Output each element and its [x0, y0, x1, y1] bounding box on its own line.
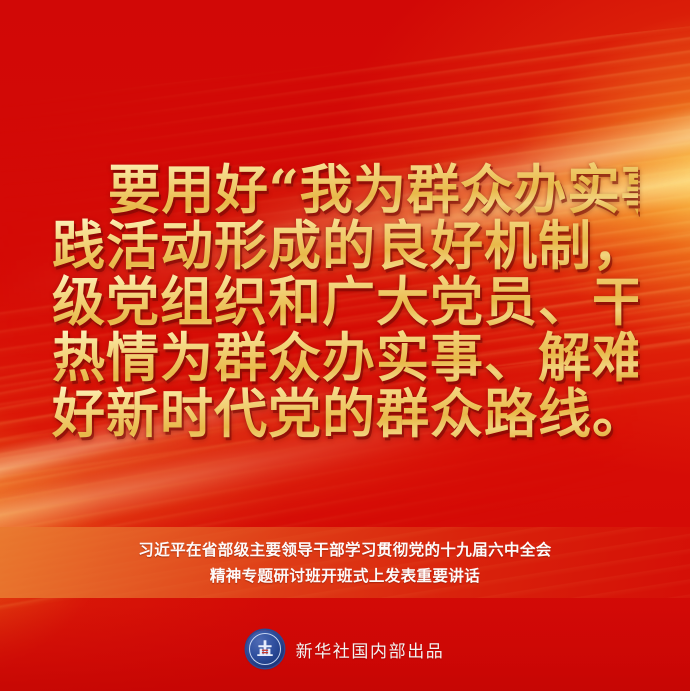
- headline-line-3: 级党组织和广大党员、干部满腔: [52, 274, 638, 330]
- footer-attribution-text: 新华社国内部出品: [296, 637, 445, 662]
- poster-canvas: 要用好“我为群众办实事”实 践活动形成的良好机制，推动各 级党组织和广大党员、干…: [0, 0, 690, 691]
- headline-line-5: 好新时代党的群众路线。: [52, 386, 638, 442]
- headline-block: 要用好“我为群众办实事”实 践活动形成的良好机制，推动各 级党组织和广大党员、干…: [0, 162, 690, 442]
- headline-line-1: 要用好“我为群众办实事”实: [52, 162, 638, 218]
- caption-line-1: 习近平在省部级主要领导干部学习贯彻党的十九届六中全会: [138, 537, 551, 563]
- caption-band: 习近平在省部级主要领导干部学习贯彻党的十九届六中全会 精神专题研讨班开班式上发表…: [0, 527, 690, 598]
- xinhua-emblem-icon: [246, 630, 284, 668]
- headline-line-4: 热情为群众办实事、解难事，走: [52, 330, 638, 386]
- footer-attribution: 新华社国内部出品: [0, 616, 690, 682]
- caption-line-2: 精神专题研讨班开班式上发表重要讲话: [210, 563, 480, 589]
- headline-line-2: 践活动形成的良好机制，推动各: [52, 218, 638, 274]
